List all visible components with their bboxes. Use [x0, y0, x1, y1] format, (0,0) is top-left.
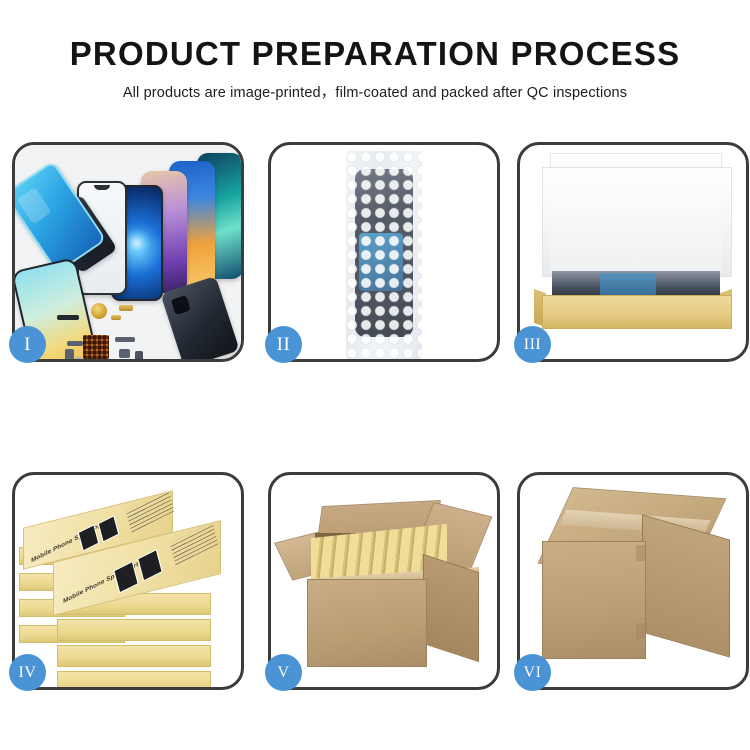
stacked-box-f-4: [57, 671, 211, 687]
box-print-spec-lines-2: [170, 522, 218, 565]
carton-side-panel: [642, 514, 730, 657]
step-badge-3: III: [514, 326, 551, 363]
part-flex-cable-2: [65, 349, 74, 359]
step-badge-6: VI: [514, 654, 551, 691]
step-3-image: [520, 145, 746, 359]
box-stack: Mobile Phone Spare Parts Mobile Pho: [19, 485, 241, 685]
stacked-box-f-3: [57, 645, 211, 667]
stacked-box-f-2: [57, 619, 211, 641]
part-gold-contact-1: [119, 305, 133, 311]
step-panel-6: VI: [517, 472, 749, 690]
step-4-image: Mobile Phone Spare Parts Mobile Pho: [15, 475, 241, 687]
step-numeral: II: [277, 334, 291, 356]
part-speaker-mesh: [57, 315, 79, 320]
step-1-image: [15, 145, 241, 359]
box-print-screen-2: [98, 515, 120, 542]
step-badge-5: V: [265, 654, 302, 691]
part-sim-tray: [75, 357, 82, 359]
foam-liner: [550, 195, 722, 273]
step-panel-2: II: [268, 142, 500, 362]
step-panel-3: III: [517, 142, 749, 362]
box-print-spec-lines-1: [126, 489, 174, 532]
bubble-bag: [346, 151, 422, 359]
step-numeral: I: [24, 334, 31, 356]
part-flex-cable-3: [115, 337, 135, 342]
sealed-carton-photo: [520, 475, 746, 687]
step-panel-5: V: [268, 472, 500, 690]
box-print-screen-4: [137, 549, 162, 581]
carton-front-panel: [542, 541, 646, 659]
step-numeral: V: [277, 664, 289, 682]
step-numeral: VI: [524, 664, 542, 682]
step-badge-2: II: [265, 326, 302, 363]
carton-front-panel: [307, 579, 427, 667]
carton-seam-upper: [636, 545, 645, 561]
part-gold-contact-2: [111, 315, 121, 320]
part-vibrator: [135, 351, 143, 359]
step-panel-4: Mobile Phone Spare Parts Mobile Pho: [12, 472, 244, 690]
parts-photo: [15, 145, 241, 359]
part-wireless-coil: [91, 303, 107, 319]
carton-seam-lower: [636, 623, 645, 639]
step-5-image: [271, 475, 497, 687]
part-flex-cable-4: [119, 349, 130, 358]
part-flex-cable-1: [67, 341, 83, 346]
step-6-image: [520, 475, 746, 687]
step-badge-4: IV: [9, 654, 46, 691]
bubble-texture: [346, 151, 422, 359]
bubble-wrap-photo: [271, 145, 497, 359]
step-2-image: [271, 145, 497, 359]
box-front-wall: [542, 295, 732, 329]
part-connector-grid: [83, 335, 109, 359]
inner-box-photo: [520, 145, 746, 359]
product-preparation-infographic: PRODUCT PREPARATION PROCESS All products…: [0, 0, 750, 750]
open-carton-photo: [271, 475, 497, 687]
step-badge-1: I: [9, 326, 46, 363]
process-step-grid: I II: [0, 0, 750, 750]
box-stack-photo: Mobile Phone Spare Parts Mobile Pho: [15, 475, 241, 687]
step-panel-1: I: [12, 142, 244, 362]
step-numeral: IV: [19, 664, 37, 682]
step-numeral: III: [524, 336, 541, 354]
carton-side-panel: [423, 554, 479, 662]
